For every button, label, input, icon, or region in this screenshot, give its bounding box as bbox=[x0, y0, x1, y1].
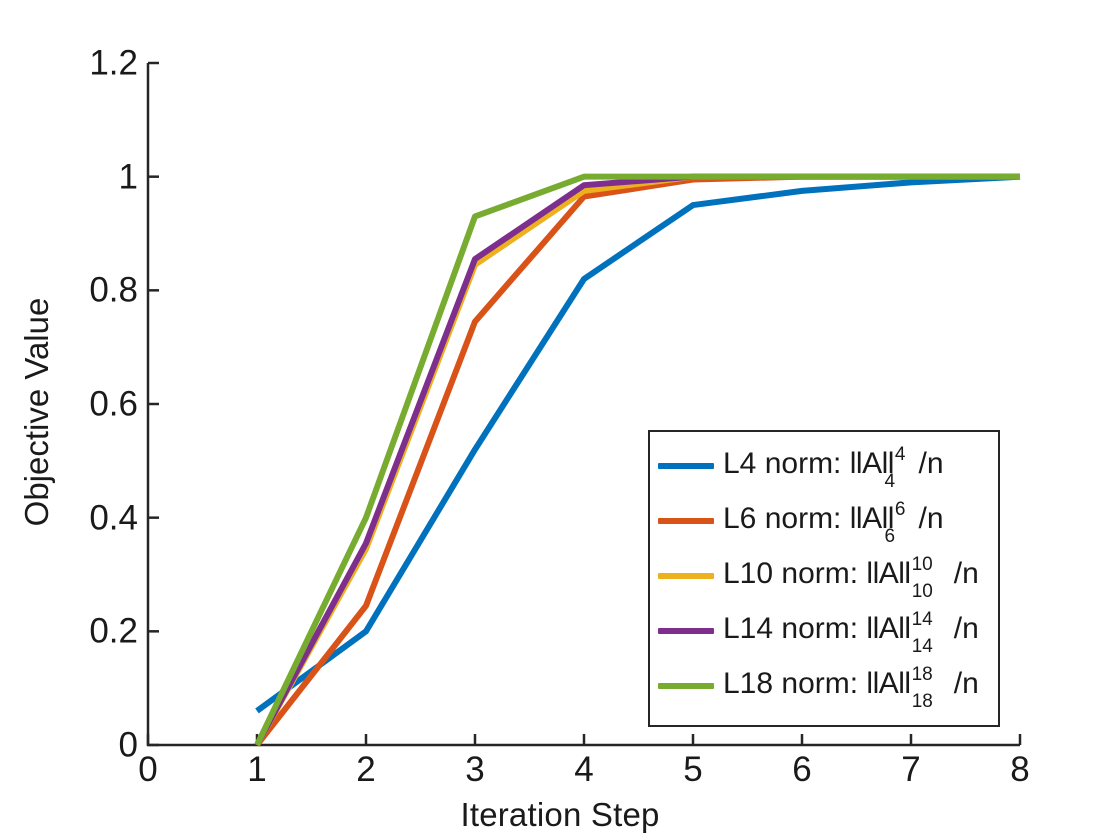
chart-legend[interactable]: L4 norm: llAll44/nL6 norm: llAll66/nL10 … bbox=[648, 430, 1000, 727]
y-tick-label: 1 bbox=[119, 159, 138, 194]
legend-item-l6-norm[interactable]: L6 norm: llAll66/n bbox=[650, 493, 998, 548]
legend-color-swatch bbox=[658, 628, 714, 634]
figure-root: 00.20.40.60.811.2 012345678 Iteration St… bbox=[0, 0, 1120, 840]
legend-color-swatch bbox=[658, 463, 714, 469]
legend-item-l10-norm[interactable]: L10 norm: llAll1010/n bbox=[650, 548, 998, 603]
legend-item-label: L6 norm: llAll66/n bbox=[723, 502, 944, 539]
legend-color-swatch bbox=[658, 573, 714, 579]
y-tick-label: 0.4 bbox=[89, 500, 138, 535]
legend-item-l18-norm[interactable]: L18 norm: llAll1818/n bbox=[650, 658, 998, 713]
x-tick-label: 7 bbox=[901, 752, 920, 787]
x-tick-label: 2 bbox=[356, 752, 375, 787]
x-tick-label: 0 bbox=[138, 752, 157, 787]
legend-color-swatch bbox=[658, 683, 714, 689]
y-tick-label: 1.2 bbox=[89, 46, 138, 81]
x-tick-label: 1 bbox=[247, 752, 266, 787]
legend-item-l4-norm[interactable]: L4 norm: llAll44/n bbox=[650, 438, 998, 493]
x-tick-label: 5 bbox=[683, 752, 702, 787]
legend-item-label: L18 norm: llAll1818/n bbox=[723, 667, 979, 704]
y-tick-label: 0.2 bbox=[89, 614, 138, 649]
y-tick-label: 0.6 bbox=[89, 387, 138, 422]
legend-item-label: L4 norm: llAll44/n bbox=[723, 447, 944, 484]
y-tick-label: 0.8 bbox=[89, 273, 138, 308]
y-tick-label: 0 bbox=[119, 728, 138, 763]
x-tick-label: 6 bbox=[792, 752, 811, 787]
y-axis-label: Objective Value bbox=[18, 132, 56, 692]
legend-color-swatch bbox=[658, 518, 714, 524]
x-axis-label: Iteration Step bbox=[0, 796, 1120, 834]
x-tick-label: 8 bbox=[1010, 752, 1029, 787]
legend-item-l14-norm[interactable]: L14 norm: llAll1414/n bbox=[650, 603, 998, 658]
x-tick-label: 4 bbox=[574, 752, 593, 787]
x-tick-label: 3 bbox=[465, 752, 484, 787]
legend-item-label: L10 norm: llAll1010/n bbox=[723, 557, 979, 594]
legend-item-label: L14 norm: llAll1414/n bbox=[723, 612, 979, 649]
